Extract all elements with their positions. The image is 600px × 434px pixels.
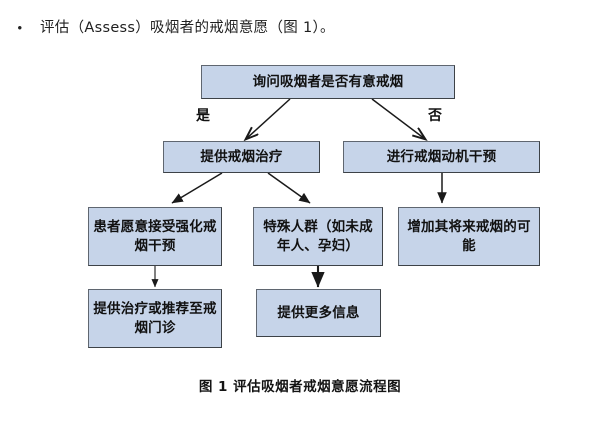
edge-label-yes: 是	[196, 105, 210, 125]
figure-caption: 图 1 评估吸烟者戒烟意愿流程图	[0, 375, 600, 395]
flowchart: 询问吸烟者是否有意戒烟 是 否 提供戒烟治疗 进行戒烟动机干预 患者愿意接受强化…	[0, 55, 600, 360]
edge-ask-to-treat	[246, 99, 290, 139]
node-special-population[interactable]: 特殊人群（如未成年人、孕妇）	[253, 207, 383, 266]
bullet-marker-icon: •	[0, 18, 22, 38]
node-refer-to-clinic[interactable]: 提供治疗或推荐至戒烟门诊	[88, 289, 222, 348]
node-patient-willing[interactable]: 患者愿意接受强化戒烟干预	[88, 207, 222, 266]
bullet-text: 评估（Assess）吸烟者的戒烟意愿（图 1）。	[40, 18, 335, 38]
node-provide-more-info[interactable]: 提供更多信息	[256, 289, 381, 337]
node-motivational-intervention[interactable]: 进行戒烟动机干预	[343, 141, 540, 173]
node-increase-future-likelihood[interactable]: 增加其将来戒烟的可能	[398, 207, 540, 266]
edge-ask-to-motivate	[372, 99, 425, 139]
edge-treat-to-special	[268, 173, 310, 203]
edge-treat-to-willing	[172, 173, 222, 203]
node-provide-treatment[interactable]: 提供戒烟治疗	[163, 141, 320, 173]
bullet-paragraph: • 评估（Assess）吸烟者的戒烟意愿（图 1）。	[0, 18, 600, 38]
edge-label-no: 否	[428, 105, 442, 125]
node-ask-intention[interactable]: 询问吸烟者是否有意戒烟	[201, 65, 455, 99]
